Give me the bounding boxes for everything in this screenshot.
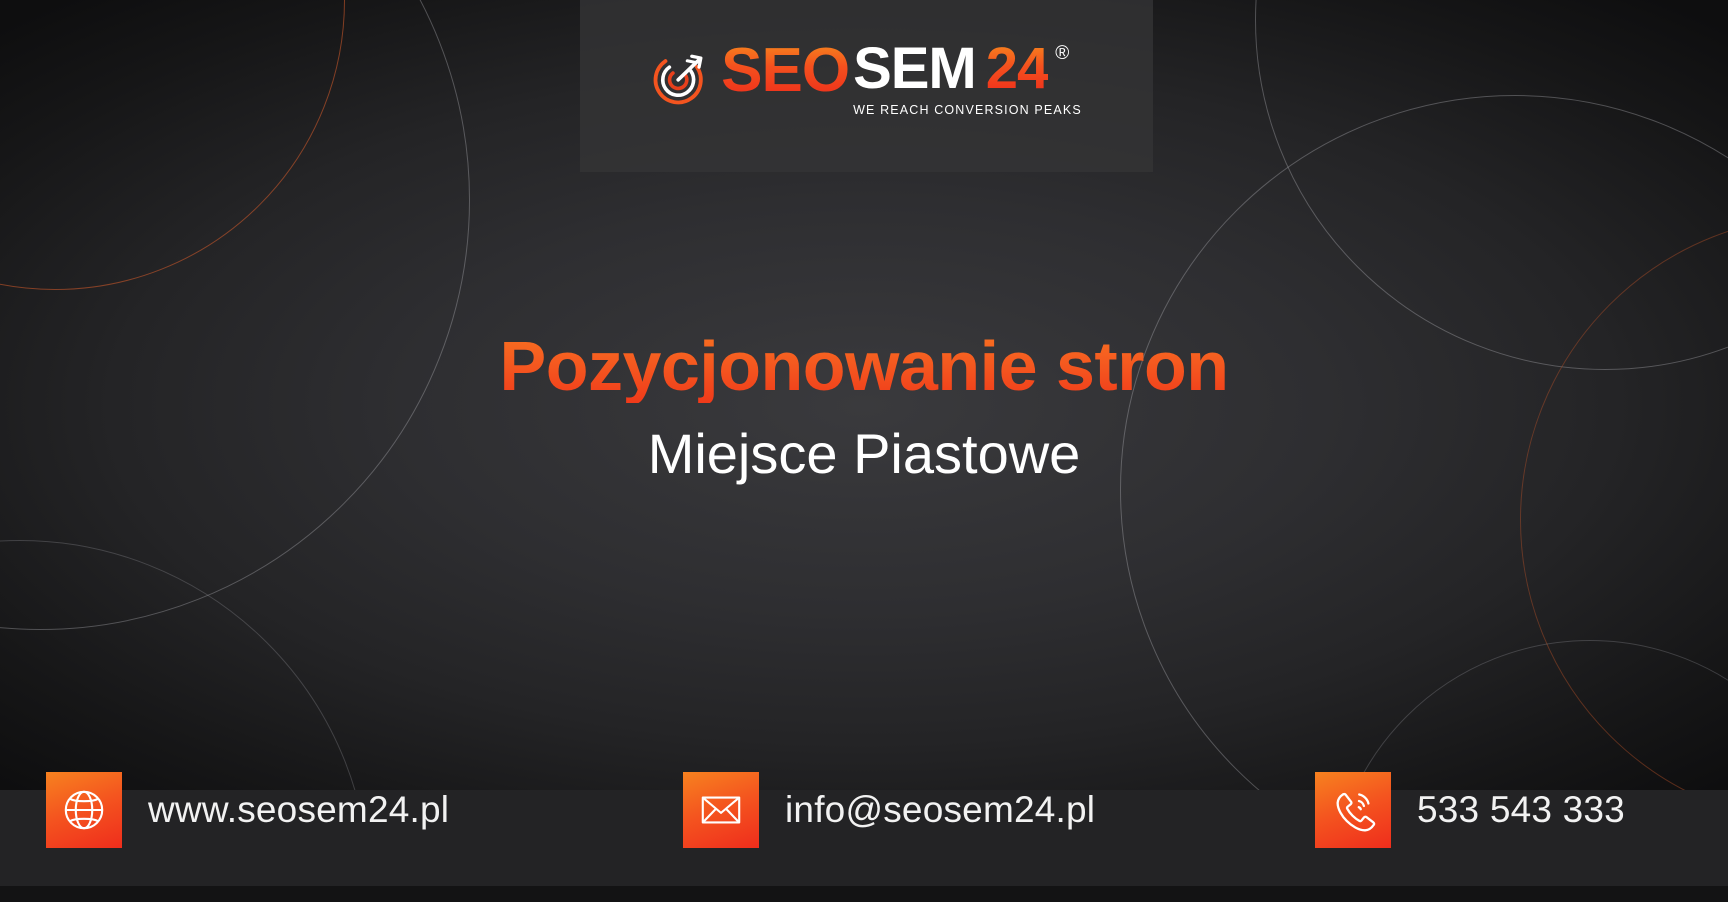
circle-gray-right-icon [1120,95,1728,885]
globe-icon [46,772,122,848]
page-subtitle: Miejsce Piastowe [648,425,1081,484]
contact-website[interactable]: www.seosem24.pl [46,772,449,848]
footer-contact-list: www.seosem24.pl info@seosem24.pl [0,790,1728,886]
circle-gray-top-right-icon [1255,0,1728,370]
page-title: Pozycjonowanie stron [500,330,1229,403]
phone-label: 533 543 333 [1417,789,1625,831]
logo-plate: SEO SEM 24 ® WE REACH CONVERSION PEAKS [580,0,1153,172]
circle-gray-top-left-icon [0,0,470,630]
contact-email[interactable]: info@seosem24.pl [683,772,1095,848]
logo-sem-text: SEM [853,40,976,98]
envelope-icon [683,772,759,848]
brand-logo[interactable]: SEO SEM 24 ® WE REACH CONVERSION PEAKS [651,40,1082,117]
headline-block: Pozycjonowanie stron Miejsce Piastowe [0,330,1728,484]
email-label: info@seosem24.pl [785,789,1095,831]
circle-orange-right-icon [1520,215,1728,825]
slide-canvas: SEO SEM 24 ® WE REACH CONVERSION PEAKS P… [0,0,1728,902]
contact-phone[interactable]: 533 543 333 [1315,772,1625,848]
footer-bottom-strip [0,886,1728,902]
circle-orange-top-left-icon [0,0,345,290]
footer-bar: www.seosem24.pl info@seosem24.pl [0,790,1728,902]
phone-ring-icon [1315,772,1391,848]
logo-wordmark: SEO SEM 24 ® WE REACH CONVERSION PEAKS [721,40,1082,117]
target-arrow-icon [651,49,709,107]
logo-tagline: WE REACH CONVERSION PEAKS [853,103,1082,117]
website-label: www.seosem24.pl [148,789,449,831]
logo-number-text: 24 [986,40,1049,98]
registered-mark: ® [1055,44,1069,63]
logo-seo-text: SEO [721,40,849,102]
